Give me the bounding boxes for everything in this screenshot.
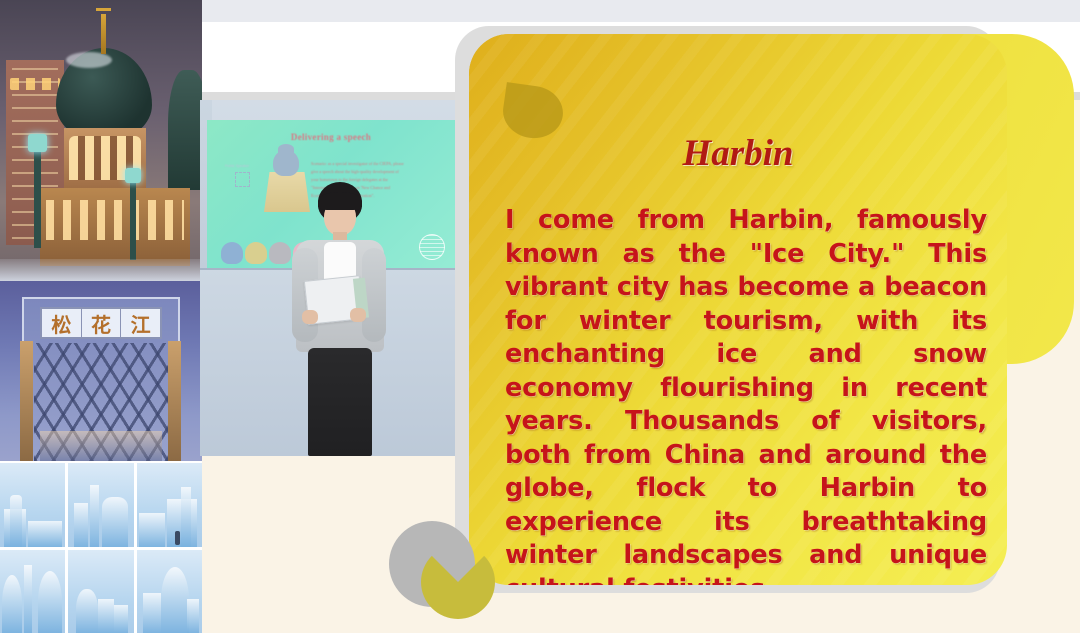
photo-songhua-river-bridge: 松 花 江 <box>0 281 202 461</box>
ice-sculpture-tile <box>137 463 202 547</box>
slide-placeholder-box <box>235 172 250 187</box>
left-photo-column: 松 花 江 <box>0 0 202 633</box>
globe-icon <box>419 234 445 260</box>
cross-icon <box>96 8 111 11</box>
street-lamp <box>130 180 136 260</box>
cathedral-spire <box>101 14 106 54</box>
cathedral-base <box>40 188 190 266</box>
card-title: Harbin <box>469 132 1007 175</box>
slide-speaker-illustration <box>273 150 299 176</box>
ice-sculpture-tile <box>0 550 65 633</box>
bridge-signboard: 松 花 江 <box>40 307 162 339</box>
slide-audience-figure <box>245 242 267 264</box>
harbin-text-card: Harbin I come from Harbin, famously know… <box>455 26 1080 618</box>
snow-ground <box>0 259 202 281</box>
slide-side-label: Public Speaker <box>225 164 249 168</box>
bridge-pillar <box>20 341 33 461</box>
slide-audience-figure <box>221 242 243 264</box>
bridge-pillar <box>168 341 181 461</box>
slide-title: Delivering a speech <box>207 132 455 142</box>
person-silhouette <box>175 531 180 545</box>
cathedral-side-dome <box>168 70 202 190</box>
photo-ice-snow-world-grid <box>0 461 202 633</box>
building-sign <box>10 78 60 90</box>
trousers <box>308 348 372 456</box>
card-panel: Harbin I come from Harbin, famously know… <box>469 34 1007 585</box>
hand-left <box>302 310 318 324</box>
street-lamp <box>34 148 41 248</box>
ice-sculpture-tile <box>68 550 133 633</box>
ice-sculpture-tile <box>0 463 65 547</box>
ice-sculpture-tile <box>137 550 202 633</box>
slide-audience-figure <box>269 242 291 264</box>
card-body-text: I come from Harbin, famously known as th… <box>505 204 987 585</box>
photo-saint-sophia-cathedral <box>0 0 202 281</box>
photo-speaker-presentation: Delivering a speech Public Speaker Scena… <box>200 100 462 456</box>
bridge-deck <box>40 431 162 461</box>
slide-root: 松 花 江 Delivering a speech Public Speaker <box>0 0 1080 633</box>
hand-right <box>350 308 366 322</box>
bridge-sign-char-3: 江 <box>121 309 160 337</box>
ice-sculpture-tile <box>68 463 133 547</box>
hair-fringe <box>318 192 362 210</box>
bridge-sign-char-1: 松 <box>42 309 82 337</box>
speaker-person <box>292 182 388 456</box>
bridge-sign-char-2: 花 <box>82 309 122 337</box>
